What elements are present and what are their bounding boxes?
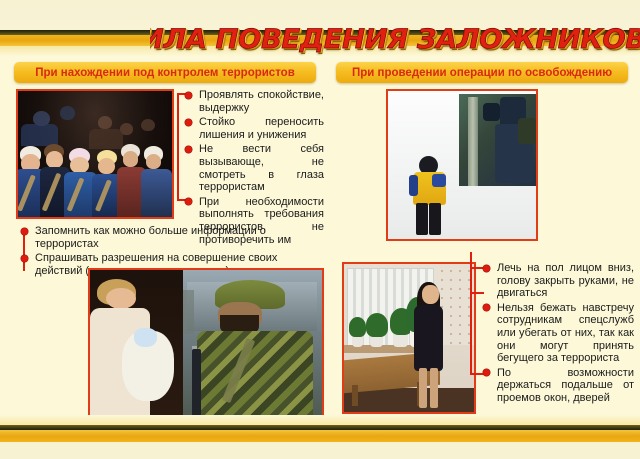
- poster-title-area: ПРАВИЛА ПОВЕДЕНИЯ ЗАЛОЖНИКОВ: [150, 22, 640, 56]
- list-item-text: Запомнить как можно больше информации о …: [35, 225, 324, 250]
- bottom-decorative-band: [0, 415, 640, 459]
- poster-page: ПРАВИЛА ПОВЕДЕНИЯ ЗАЛОЖНИКОВ При нахожде…: [0, 0, 640, 459]
- bullet-dot-icon: [483, 369, 490, 376]
- section-heading-rescue-operation: При проведении операции по освобождению: [336, 62, 628, 83]
- list-item-text: Не вести себя вызывающе, не смотреть в г…: [199, 143, 324, 193]
- list-item-text: Нельзя бежать навстречу сотрудникам спец…: [497, 302, 634, 365]
- list-item-text: Стойко переносить лишения и унижения: [199, 116, 324, 141]
- photo-woman-and-soldier-scene: [90, 270, 322, 416]
- photo-room-with-woman: [342, 262, 476, 414]
- list-item-text: По возможности держаться подальше от про…: [497, 367, 634, 405]
- list-item: Не вести себя вызывающе, не смотреть в г…: [184, 143, 324, 193]
- bullet-dot-icon: [185, 119, 192, 126]
- page-title: ПРАВИЛА ПОВЕДЕНИЯ ЗАЛОЖНИКОВ: [150, 24, 640, 55]
- photo-hostages-scene: [18, 91, 172, 217]
- list-item: Стойко переносить лишения и унижения: [184, 116, 324, 141]
- photo-child-in-snow-scene: [388, 91, 536, 239]
- list-item-text: Лечь на пол лицом вниз, голову закрыть р…: [497, 262, 634, 300]
- photo-woman-and-soldier: [88, 268, 324, 418]
- bullet-rail-left-vertical: [177, 93, 179, 201]
- bullet-dot-icon: [483, 304, 490, 311]
- bullet-dot-icon: [185, 92, 192, 99]
- bottom-band-gold-stripe: [0, 430, 640, 442]
- bottom-band-fade: [0, 415, 640, 425]
- section-heading-hostage-control: При нахождении под контролем террористов: [14, 62, 316, 83]
- list-item: Нельзя бежать навстречу сотрудникам спец…: [482, 302, 634, 365]
- list-item-text: Проявлять спокойствие, выдержку: [199, 89, 324, 114]
- photo-hostages-in-hall: [16, 89, 174, 219]
- bullet-dot-icon: [185, 198, 192, 205]
- bullet-dot-icon: [21, 255, 28, 262]
- bottom-band-cream: [0, 442, 640, 459]
- bullet-list-rescue-operation: Лечь на пол лицом вниз, голову закрыть р…: [482, 262, 634, 407]
- list-item: По возможности держаться подальше от про…: [482, 367, 634, 405]
- list-item: Запомнить как можно больше информации о …: [20, 225, 324, 250]
- list-item: Лечь на пол лицом вниз, голову закрыть р…: [482, 262, 634, 300]
- bullet-rail-right-vertical: [470, 252, 472, 375]
- bullet-dot-icon: [185, 146, 192, 153]
- photo-room-with-woman-scene: [344, 264, 474, 412]
- bullet-dot-icon: [21, 228, 28, 235]
- list-item: Проявлять спокойствие, выдержку: [184, 89, 324, 114]
- photo-child-in-snow: [386, 89, 538, 241]
- bullet-dot-icon: [483, 265, 490, 272]
